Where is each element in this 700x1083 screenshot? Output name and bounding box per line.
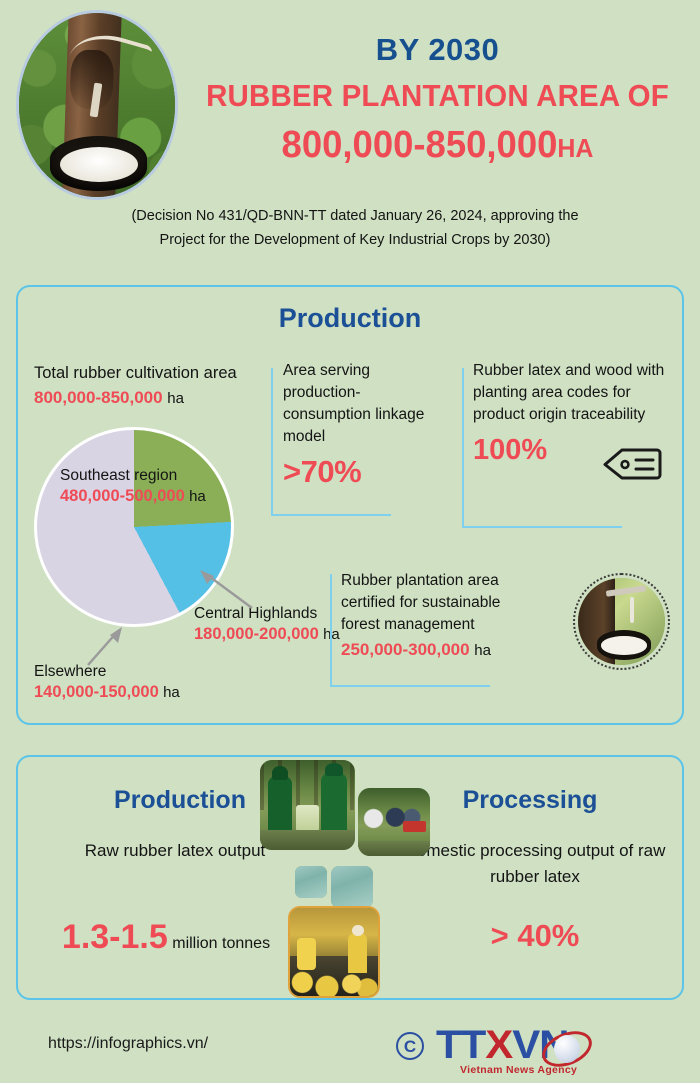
ttxvn-globe-icon — [554, 1035, 580, 1063]
bottom-processing-title: Processing — [400, 786, 660, 815]
bottom-processing-desc: Domestic processing output of raw rubber… — [400, 838, 670, 890]
pie-arrow-central-highlands-icon — [196, 568, 256, 612]
infographic-page: BY 2030 RUBBER PLANTATION AREA OF 800,00… — [0, 0, 700, 1083]
ph2-red-table — [403, 821, 426, 832]
header-eyebrow: BY 2030 — [190, 32, 685, 68]
header-value: 800,000-850,000 — [282, 124, 558, 166]
header-unit: HA — [557, 133, 593, 163]
ttxvn-logo: C TTXVN Vietnam News Agency — [396, 1023, 676, 1075]
certified-unit: ha — [474, 642, 491, 659]
header-decision-note: (Decision No 431/QD-BNN-TT dated January… — [120, 204, 590, 252]
ttxvn-x: X — [485, 1023, 512, 1067]
header-value-row: 800,000-850,000HA — [195, 124, 680, 167]
ph3-water — [295, 866, 327, 898]
ph1-worker-right — [321, 773, 348, 832]
collage-photo-workers-seated — [358, 788, 430, 856]
bottom-production-value: 1.3-1.5 — [62, 918, 168, 956]
linkage-label: Area serving production-consumption link… — [283, 360, 433, 448]
pie-callout-southeast: Southeast region 480,000-500,000 ha — [60, 465, 240, 507]
collage-photo-latex-collection — [260, 760, 355, 850]
tag-icon — [601, 447, 663, 481]
collage-photo-latex-closeup-2 — [331, 866, 373, 908]
ph4-water — [331, 866, 373, 908]
certified-value-row: 250,000-300,000 ha — [341, 640, 526, 660]
pie-callout-southeast-value: 480,000-500,000 — [60, 487, 185, 505]
bottom-production-value-row: 1.3-1.5 million tonnes — [36, 918, 296, 957]
bottom-processing-value: > 40% — [400, 918, 670, 954]
collage-photo-processing-factory — [288, 906, 380, 998]
ph1-trough — [260, 830, 355, 850]
pie-callout-southeast-unit: ha — [189, 488, 206, 505]
certified-label: Rubber plantation area certified for sus… — [341, 570, 526, 636]
total-cultivation-value: 800,000-850,000 — [34, 388, 163, 407]
linkage-stat: Area serving production-consumption link… — [283, 360, 433, 490]
closeup-drip — [630, 597, 634, 623]
ttxvn-subtitle: Vietnam News Agency — [460, 1064, 577, 1076]
ph5-worker — [348, 934, 367, 973]
copyright-icon: C — [396, 1032, 424, 1060]
ttxvn-tt: TT — [436, 1023, 485, 1067]
latex-liquid — [60, 147, 138, 182]
header-title: RUBBER PLANTATION AREA OF — [198, 78, 678, 114]
rubber-tapping-hero-photo — [16, 10, 178, 200]
footer-url[interactable]: https://infographics.vn/ — [48, 1035, 208, 1053]
pie-callout-elsewhere: Elsewhere 140,000-150,000 ha — [34, 661, 234, 703]
pie-callout-elsewhere-value: 140,000-150,000 — [34, 683, 159, 701]
ph2-trough — [358, 841, 430, 856]
pie-callout-southeast-label: Southeast region — [60, 465, 240, 486]
latex-closeup-inner — [578, 578, 665, 665]
certified-value: 250,000-300,000 — [341, 640, 470, 659]
total-cultivation-value-row: 800,000-850,000 ha — [34, 388, 269, 408]
pie-callout-elsewhere-unit: ha — [163, 684, 180, 701]
pie-callout-elsewhere-label: Elsewhere — [34, 661, 234, 682]
total-cultivation-unit: ha — [167, 390, 184, 407]
latex-closeup-circle-photo — [573, 573, 670, 670]
total-cultivation-label: Total rubber cultivation area — [34, 362, 269, 384]
collage-photo-latex-closeup-1 — [295, 866, 327, 898]
certified-stat: Rubber plantation area certified for sus… — [341, 570, 526, 660]
production-panel-title: Production — [0, 303, 700, 334]
total-cultivation-stat: Total rubber cultivation area 800,000-85… — [34, 362, 269, 408]
linkage-value: >70% — [283, 454, 433, 490]
closeup-latex — [601, 636, 646, 654]
pie-arrow-elsewhere-icon — [84, 625, 128, 669]
pie-callout-central-highlands-value: 180,000-200,000 — [194, 625, 319, 643]
bottom-production-unit: million tonnes — [172, 935, 270, 952]
traceability-label: Rubber latex and wood with planting area… — [473, 360, 673, 426]
ph1-worker-left — [268, 776, 293, 832]
